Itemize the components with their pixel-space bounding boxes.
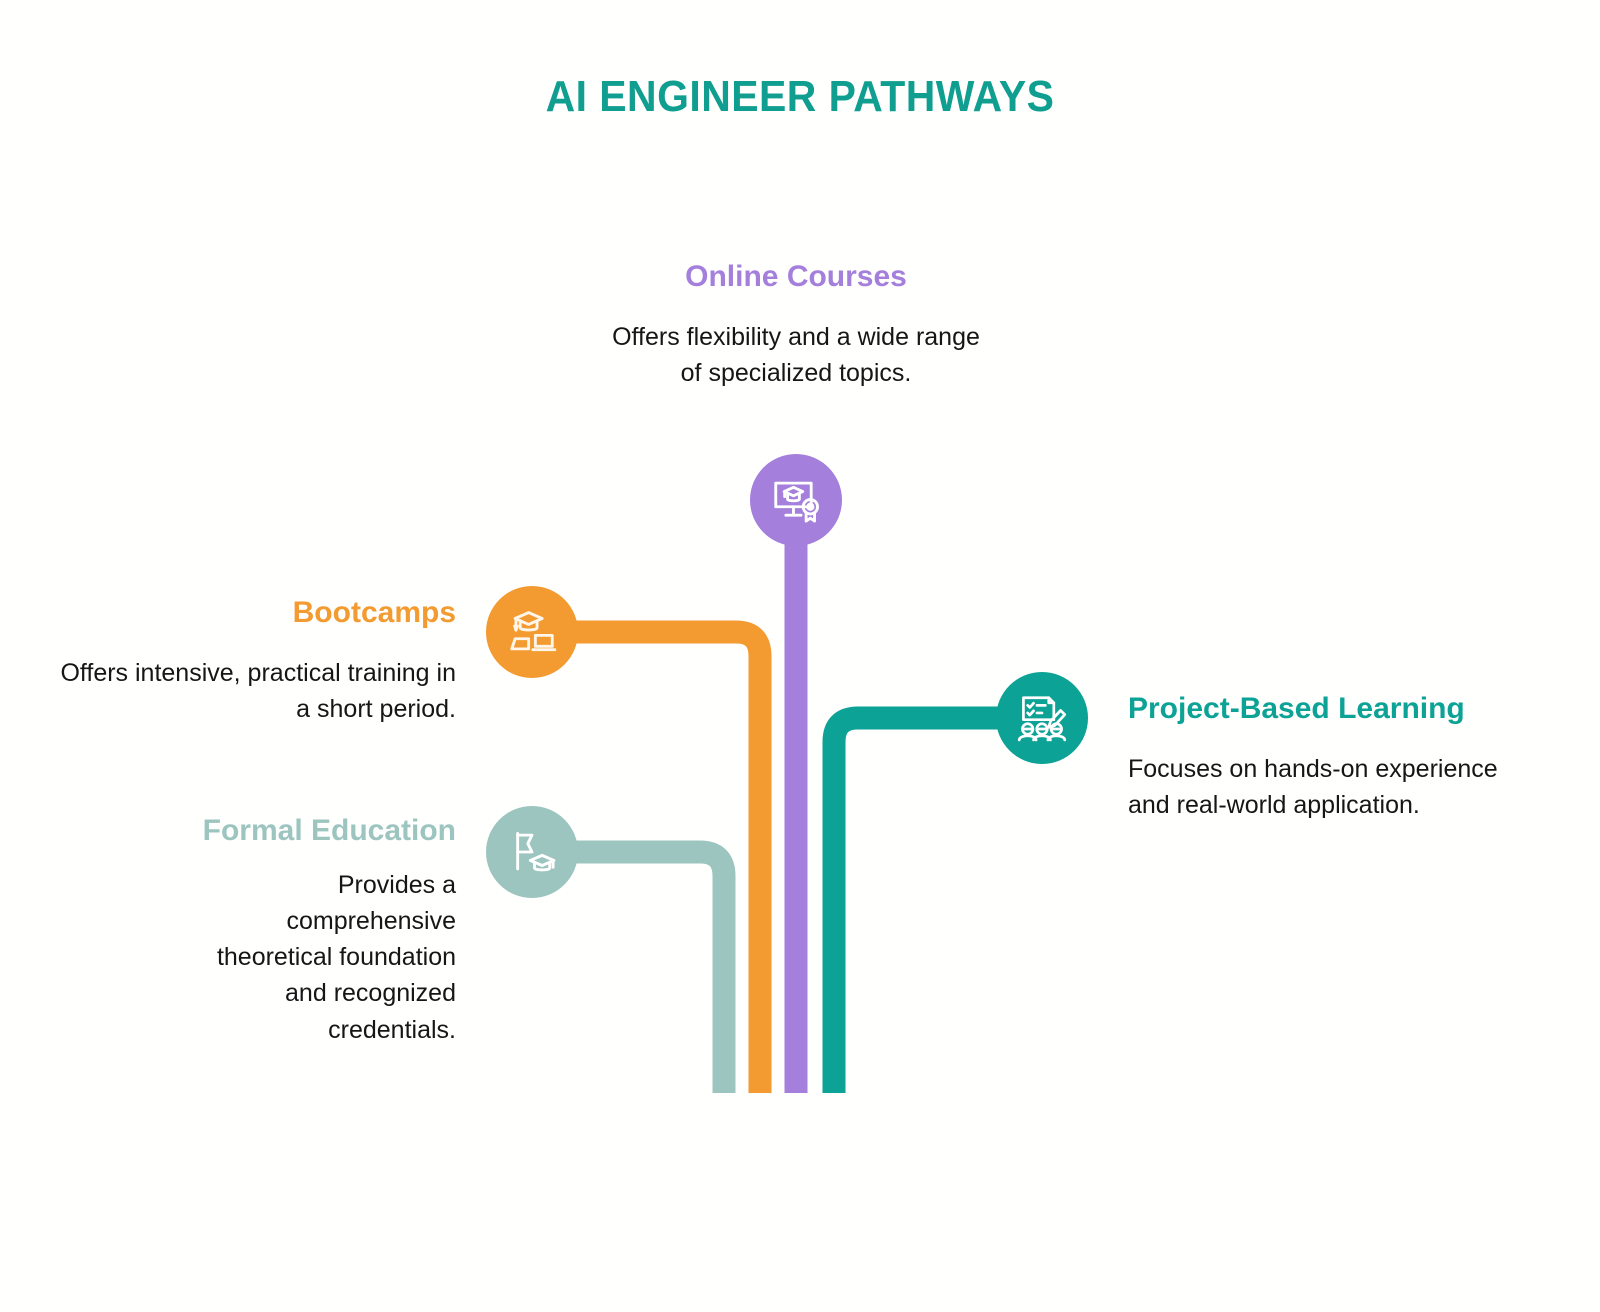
heading-bootcamps: Bootcamps	[46, 592, 456, 635]
node-bootcamps[interactable]	[486, 586, 578, 678]
text-block-bootcamps: Bootcamps Offers intensive, practical tr…	[46, 592, 456, 727]
description-bootcamps: Offers intensive, practical training in …	[46, 655, 456, 728]
connector-project-based	[834, 718, 1042, 1093]
graduation-cap-laptops-icon	[505, 605, 559, 659]
text-block-formal-education: Formal Education Provides a comprehensiv…	[46, 810, 456, 1048]
node-online-courses[interactable]	[750, 454, 842, 546]
description-formal-education: Provides a comprehensive theoretical fou…	[46, 867, 456, 1048]
monitor-graduation-cap-award-icon	[769, 473, 823, 527]
checklist-pencil-people-icon	[1015, 691, 1069, 745]
description-online-courses: Offers flexibility and a wide range of s…	[568, 319, 1024, 392]
heading-formal-education: Formal Education	[46, 810, 456, 853]
heading-project-based-learning: Project-Based Learning	[1128, 688, 1498, 731]
heading-online-courses: Online Courses	[568, 256, 1024, 299]
text-block-online-courses: Online Courses Offers flexibility and a …	[568, 256, 1024, 391]
infographic-canvas: AI ENGINEER PATHWAYS	[0, 0, 1600, 1312]
node-formal-education[interactable]	[486, 806, 578, 898]
flag-graduation-cap-icon	[505, 825, 559, 879]
description-project-based-learning: Focuses on hands-on experience and real-…	[1128, 751, 1498, 824]
text-block-project-based-learning: Project-Based Learning Focuses on hands-…	[1128, 688, 1498, 823]
node-project-based-learning[interactable]	[996, 672, 1088, 764]
